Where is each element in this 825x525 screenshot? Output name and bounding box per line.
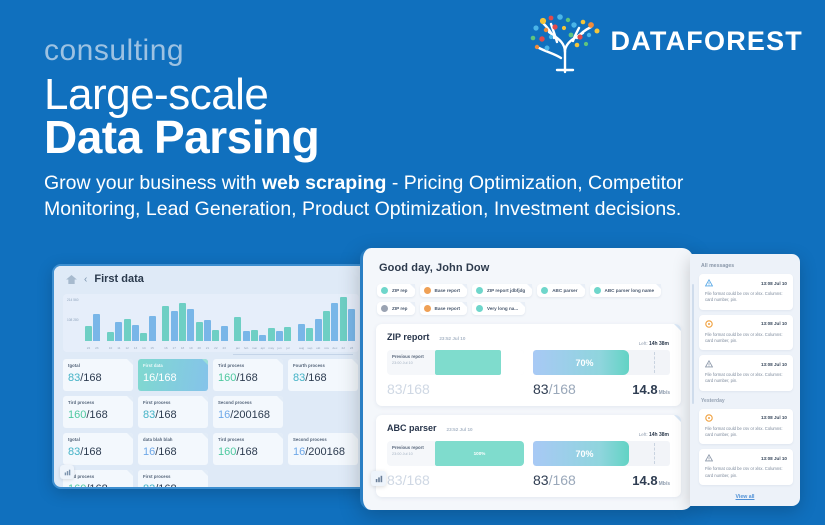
- chip-label: Very long na...: [487, 306, 518, 311]
- stat-card-label: Tird process: [218, 437, 278, 442]
- stat-card[interactable]: First data16/168: [138, 359, 208, 391]
- messages-day-separator: Yesterday: [690, 391, 800, 404]
- filter-chip[interactable]: Very long na...: [472, 302, 525, 315]
- stat-card-numerator: 16: [293, 446, 305, 458]
- report-values-row: 83/16883/16814.8Mb/s: [387, 472, 670, 488]
- stat-card-label: Second process: [293, 437, 353, 442]
- chart-bar: [298, 324, 305, 341]
- chart-bar: [306, 328, 313, 341]
- chart-x-label: nov: [323, 346, 330, 350]
- chart-bar: [162, 306, 169, 341]
- chart-bar: [268, 328, 275, 341]
- greeting-text: Good day, John Dow: [363, 248, 693, 274]
- chip-status-dot: [541, 287, 548, 294]
- subtitle-pre: Grow your business with: [44, 172, 262, 194]
- stat-card-numerator: 16: [143, 372, 155, 384]
- chart-ylabel-top: 214 560: [67, 298, 79, 302]
- previous-progress-bar: 74%: [435, 350, 524, 375]
- transfer-speed-unit: Mb/s: [659, 481, 670, 487]
- stat-card-value: 160/168: [218, 446, 278, 458]
- chart-bar: [348, 309, 355, 341]
- message-body: File format could be csv or xlsx. Column…: [705, 466, 787, 479]
- stat-card[interactable]: First process83/168: [138, 396, 208, 428]
- previous-total-value: 83/168: [387, 381, 524, 397]
- transfer-speed-unit: Mb/s: [659, 390, 670, 396]
- left-panel-title: First data: [94, 273, 144, 285]
- message-list-yesterday: 13:08 Jul 10File format could be csv or …: [690, 409, 800, 485]
- chart-x-label: 13: [132, 346, 139, 350]
- message-list: 13:08 Jul 10File format could be csv or …: [690, 274, 800, 391]
- report-title: ZIP report: [387, 332, 429, 342]
- stat-card-numerator: 83: [143, 483, 155, 489]
- message-body: File format could be csv or xlsx. Column…: [705, 372, 787, 385]
- stat-card[interactable]: Tird process160/168: [213, 359, 283, 391]
- messages-panel: All messages 13:08 Jul 10File format cou…: [690, 254, 800, 506]
- kicker-text: consulting: [44, 34, 184, 68]
- stat-card-value: 83/168: [68, 372, 128, 384]
- report-card[interactable]: ABC parser23:52 Jul 10Left: 14h 38mPrevi…: [376, 415, 681, 497]
- message-time: 13:08 Jul 10: [761, 362, 787, 367]
- transfer-speed-value: 14.8: [632, 382, 657, 397]
- chart-x-label: 22: [340, 346, 347, 350]
- chart-bar: [234, 317, 241, 341]
- filter-chip[interactable]: ABC parser long name: [590, 284, 662, 297]
- chart-bar: [259, 335, 266, 341]
- left-panel-header: ‹ First data: [54, 266, 368, 292]
- home-icon[interactable]: [66, 275, 77, 284]
- stat-card[interactable]: Second process16/200168: [213, 396, 283, 428]
- chart-x-label: 17: [171, 346, 178, 350]
- previous-report-title: Previous report: [392, 354, 430, 359]
- previous-report-time: 23:00 Jul 10: [392, 361, 430, 365]
- previous-progress-percent: 100%: [435, 451, 524, 456]
- stat-card-label: First process: [143, 400, 203, 405]
- stat-card-denominator: /168: [236, 446, 257, 458]
- message-header: 13:08 Jul 10: [705, 320, 787, 328]
- card-corner-fold: [127, 433, 133, 439]
- stat-card-denominator: /168: [86, 483, 107, 489]
- chart-underline: [233, 354, 353, 355]
- report-card-list: ZIP report23:52 Jul 10Left: 14h 38mPrevi…: [363, 324, 693, 497]
- chart-bar: [196, 322, 203, 341]
- card-corner-fold: [277, 433, 283, 439]
- message-header: 13:08 Jul 10: [705, 454, 787, 462]
- chart-x-label: 23: [221, 346, 228, 350]
- stat-card-numerator: 160: [218, 372, 236, 384]
- chart-x-label: 10: [107, 346, 114, 350]
- chart-x-label: 22: [212, 346, 219, 350]
- chart-bar: [171, 311, 178, 341]
- chip-corner-fold: [410, 302, 415, 307]
- stat-card[interactable]: data blah blah16/168: [138, 433, 208, 465]
- chart-x-label: aug: [298, 346, 305, 350]
- chart-bar: [85, 326, 92, 341]
- chart-bar: [140, 333, 147, 341]
- warning-triangle-icon: [705, 360, 713, 368]
- promo-banner: DATAFOREST consulting Large-scale Data P…: [0, 0, 825, 525]
- chart-x-label: jul: [284, 346, 291, 350]
- report-bars-row: Previous report23:00 Jul 1074%70%: [387, 350, 670, 375]
- main-progress-bar: 70%: [533, 441, 670, 466]
- previous-report-label: Previous report23:00 Jul 10: [387, 441, 435, 466]
- stat-card-label: Tird process: [68, 400, 128, 405]
- message-body: File format could be csv or xlsx. Column…: [705, 291, 787, 304]
- current-total-numerator: 83: [533, 381, 549, 397]
- current-total-denominator: /168: [549, 381, 576, 397]
- chip-status-dot: [424, 287, 431, 294]
- time-left-value: 14h 38m: [649, 432, 669, 438]
- left-dashboard-panel: ‹ First data 214 560 108 280 22231011121…: [52, 264, 370, 489]
- page-title-line2: Data Parsing: [44, 110, 319, 164]
- chart-x-label: 22: [85, 346, 92, 350]
- stat-card-denominator: /200168: [305, 446, 345, 458]
- stat-card-numerator: 83: [68, 372, 80, 384]
- chart-x-label: 14: [140, 346, 147, 350]
- stat-card[interactable]: Fourth process83/168: [288, 359, 358, 391]
- chart-bars-icon[interactable]: [60, 465, 74, 479]
- card-corner-fold: [127, 470, 133, 476]
- card-corner-fold: [277, 396, 283, 402]
- current-values: 83/16814.8Mb/s: [533, 472, 670, 488]
- chart-x-label: apr: [259, 346, 266, 350]
- current-total-value: 83/168: [533, 381, 576, 397]
- chip-status-dot: [476, 305, 483, 312]
- chart-bar: [221, 326, 228, 341]
- chart-bar: [251, 330, 258, 341]
- chart-bar: [331, 303, 338, 341]
- stat-card-denominator: /168: [80, 446, 101, 458]
- chip-corner-fold: [527, 284, 532, 289]
- stat-card[interactable]: Tird process160/168: [63, 396, 133, 428]
- stat-card-value: 160/168: [68, 409, 128, 421]
- stat-card-denominator: /168: [236, 372, 257, 384]
- card-corner-fold: [127, 359, 133, 365]
- warning-triangle-icon: [705, 454, 713, 462]
- chip-corner-fold: [462, 302, 467, 307]
- chart-x-label: jun: [276, 346, 283, 350]
- stat-card-label: tgotal: [68, 437, 128, 442]
- message-card[interactable]: 13:08 Jul 10File format could be csv or …: [699, 315, 793, 351]
- card-corner-fold: [674, 415, 681, 422]
- card-corner-fold: [352, 359, 358, 365]
- stat-card-value: 16/200168: [218, 409, 278, 421]
- stat-card-numerator: 160: [218, 446, 236, 458]
- current-total-value: 83/168: [533, 472, 576, 488]
- stat-card[interactable]: tgotal83/168: [63, 433, 133, 465]
- current-total-denominator: /168: [549, 472, 576, 488]
- chart-ylabel-mid: 108 280: [67, 318, 79, 322]
- stat-card-value: 16/200168: [293, 446, 353, 458]
- chip-corner-fold: [580, 284, 585, 289]
- card-corner-fold: [202, 470, 208, 476]
- transfer-speed: 14.8Mb/s: [632, 473, 670, 488]
- filter-chip[interactable]: Base report: [420, 302, 468, 315]
- main-progress-bar: 70%: [533, 350, 670, 375]
- chart-x-label: 16: [162, 346, 169, 350]
- chart-x-label: 11: [115, 346, 122, 350]
- message-body: File format could be csv or xlsx. Column…: [705, 332, 787, 345]
- chart-bars-icon[interactable]: [371, 471, 386, 486]
- chart-bar: [115, 322, 122, 341]
- chart-bar: [212, 330, 219, 341]
- alert-circle-icon: [705, 414, 713, 422]
- report-values-row: 83/16883/16814.8Mb/s: [387, 381, 670, 397]
- stat-card-numerator: 16: [218, 409, 230, 421]
- stat-card-label: data blah blah: [143, 437, 203, 442]
- message-header: 13:08 Jul 10: [705, 279, 787, 287]
- stat-card-denominator: /168: [86, 409, 107, 421]
- chip-label: ZIP rep: [392, 306, 408, 311]
- transfer-speed-value: 14.8: [632, 473, 657, 488]
- chart-x-label: feb: [243, 346, 250, 350]
- chip-status-dot: [381, 287, 388, 294]
- chart-bar: [124, 319, 131, 342]
- stat-card-placeholder: [288, 396, 358, 428]
- stat-card-label: Fourth process: [293, 363, 353, 368]
- transfer-speed: 14.8Mb/s: [632, 382, 670, 397]
- stat-card-label: tgotal: [68, 363, 128, 368]
- chart-bar: [149, 316, 156, 341]
- current-values: 83/16814.8Mb/s: [533, 381, 670, 397]
- message-body: File format could be csv or xlsx. Column…: [705, 426, 787, 439]
- chart-x-axis: 22231011121314151617181920212223janfebma…: [85, 346, 355, 350]
- card-corner-fold: [277, 359, 283, 365]
- card-corner-fold: [352, 433, 358, 439]
- card-corner-fold: [202, 396, 208, 402]
- stat-card-denominator: /168: [80, 372, 101, 384]
- chip-label: ABC parser long name: [605, 288, 655, 293]
- chip-corner-fold: [462, 284, 467, 289]
- time-left-label: Left:: [639, 432, 648, 437]
- card-corner-fold: [202, 359, 208, 365]
- time-left-label: Left:: [639, 341, 648, 346]
- chip-label: ABC parser: [552, 288, 577, 293]
- stat-card-label: Tird process: [68, 474, 128, 479]
- message-card[interactable]: 13:08 Jul 10File format could be csv or …: [699, 449, 793, 485]
- chart-bar: [340, 297, 347, 341]
- previous-report-label: Previous report23:00 Jul 10: [387, 350, 435, 375]
- filter-chip[interactable]: ABC parser: [537, 284, 584, 297]
- message-time: 13:08 Jul 10: [761, 456, 787, 461]
- current-total-numerator: 83: [533, 472, 549, 488]
- message-header: 13:08 Jul 10: [705, 360, 787, 368]
- message-time: 13:08 Jul 10: [761, 281, 787, 286]
- report-header: ABC parser23:52 Jul 10: [387, 423, 670, 433]
- stat-card-label: First data: [143, 363, 203, 368]
- chip-status-dot: [594, 287, 601, 294]
- bar-chart: 214 560 108 280 222310111213141516171819…: [63, 294, 359, 352]
- main-progress-percent: 70%: [533, 358, 670, 368]
- stat-card-value: 160/168: [218, 372, 278, 384]
- report-bars-row: Previous report23:00 Jul 10100%70%: [387, 441, 670, 466]
- message-card[interactable]: 13:08 Jul 10File format could be csv or …: [699, 409, 793, 445]
- stat-card-value: 160/168: [68, 483, 128, 489]
- chip-list: ZIP repBase reportZIP report jdbfjdgABC …: [363, 274, 693, 315]
- stat-card-numerator: 160: [68, 483, 86, 489]
- stat-card[interactable]: tgotal83/168: [63, 359, 133, 391]
- previous-report-block: Previous report23:00 Jul 10100%: [387, 441, 524, 466]
- stat-card-denominator: /168: [155, 483, 176, 489]
- card-corner-fold: [127, 396, 133, 402]
- message-card[interactable]: 13:08 Jul 10File format could be csv or …: [699, 274, 793, 310]
- brand-logo: DATAFOREST: [521, 8, 803, 74]
- chart-bar: [93, 314, 100, 341]
- stat-card-value: 16/168: [143, 446, 203, 458]
- stat-card-denominator: /200168: [230, 409, 270, 421]
- stat-card-numerator: 83: [68, 446, 80, 458]
- alert-circle-icon: [705, 320, 713, 328]
- chart-bar: [284, 327, 291, 341]
- stat-card[interactable]: First process83/168: [138, 470, 208, 489]
- stat-card-value: 83/168: [293, 372, 353, 384]
- chip-label: ZIP report jdbfjdg: [487, 288, 525, 293]
- previous-progress-percent: 74%: [509, 360, 518, 365]
- subtitle-highlight: web scraping: [262, 172, 387, 194]
- report-header: ZIP report23:52 Jul 10: [387, 332, 670, 342]
- view-all-link[interactable]: View all: [690, 485, 800, 500]
- chip-status-dot: [476, 287, 483, 294]
- report-time-left: Left: 14h 38m: [639, 432, 669, 438]
- stat-card-numerator: 160: [68, 409, 86, 421]
- main-progress-percent: 70%: [533, 449, 670, 459]
- chart-x-label: jan: [234, 346, 241, 350]
- tree-dots-icon: [521, 8, 607, 74]
- chart-bar: [179, 303, 186, 341]
- chart-x-label: may: [268, 346, 275, 350]
- chart-bar: [107, 332, 114, 341]
- chart-bar: [315, 319, 322, 342]
- chart-bar: [204, 320, 211, 341]
- stat-card-label: Second process: [218, 400, 278, 405]
- stat-card-denominator: /168: [155, 372, 176, 384]
- filter-chip[interactable]: Base report: [420, 284, 468, 297]
- stat-card-numerator: 16: [143, 446, 155, 458]
- chart-x-label: 15: [149, 346, 156, 350]
- stat-card-denominator: /168: [305, 372, 326, 384]
- stat-card-value: 83/168: [143, 409, 203, 421]
- previous-report-time: 23:00 Jul 10: [392, 452, 430, 456]
- stat-cards-grid: tgotal83/168First data16/168Tird process…: [63, 359, 359, 489]
- time-left-value: 14h 38m: [649, 341, 669, 347]
- chart-bar: [276, 331, 283, 341]
- report-timestamp: 23:52 Jul 10: [447, 427, 473, 432]
- card-corner-fold: [674, 324, 681, 331]
- chart-x-label: dec: [331, 346, 338, 350]
- chart-x-label: 18: [179, 346, 186, 350]
- message-time: 13:08 Jul 10: [761, 415, 787, 420]
- stat-card-numerator: 83: [293, 372, 305, 384]
- chart-bars: [85, 297, 355, 341]
- stat-card-value: 16/168: [143, 372, 203, 384]
- chart-bar: [187, 309, 194, 341]
- brand-name: DATAFOREST: [611, 26, 803, 57]
- report-time-left: Left: 14h 38m: [639, 341, 669, 347]
- report-card[interactable]: ZIP report23:52 Jul 10Left: 14h 38mPrevi…: [376, 324, 681, 406]
- report-title: ABC parser: [387, 423, 437, 433]
- chart-x-label: okt: [315, 346, 322, 350]
- stat-card-label: Tird process: [218, 363, 278, 368]
- chip-corner-fold: [520, 302, 525, 307]
- report-timestamp: 23:52 Jul 10: [439, 336, 465, 341]
- chart-bar: [132, 325, 139, 341]
- chart-x-label: 23: [348, 346, 355, 350]
- filter-chip[interactable]: ZIP rep: [377, 302, 415, 315]
- messages-scrollbar[interactable]: [692, 284, 694, 404]
- subtitle: Grow your business with web scraping - P…: [44, 170, 774, 223]
- previous-report-block: Previous report23:00 Jul 1074%: [387, 350, 524, 375]
- chip-status-dot: [381, 305, 388, 312]
- stat-card[interactable]: Tird process160/168: [213, 433, 283, 465]
- messages-title: All messages: [690, 254, 800, 269]
- stat-card-denominator: /168: [155, 446, 176, 458]
- chip-corner-fold: [410, 284, 415, 289]
- chart-bar: [243, 331, 250, 341]
- stat-card-value: 83/168: [68, 446, 128, 458]
- chart-x-label: 12: [124, 346, 131, 350]
- stat-card-denominator: /168: [155, 409, 176, 421]
- chart-x-label: 19: [187, 346, 194, 350]
- previous-progress-bar: 100%: [435, 441, 524, 466]
- chevron-left-icon[interactable]: ‹: [84, 274, 87, 285]
- chart-x-label: sep: [306, 346, 313, 350]
- chip-label: Base report: [435, 306, 461, 311]
- chart-x-label: 21: [204, 346, 211, 350]
- chip-corner-fold: [656, 284, 661, 289]
- chart-x-label: 23: [93, 346, 100, 350]
- chip-label: ZIP rep: [392, 288, 408, 293]
- stat-card[interactable]: Second process16/200168: [288, 433, 358, 465]
- chip-status-dot: [424, 305, 431, 312]
- card-corner-fold: [202, 433, 208, 439]
- chart-bar: [323, 311, 330, 341]
- chart-x-label: mar: [251, 346, 258, 350]
- main-dashboard-panel: Good day, John Dow ZIP repBase reportZIP…: [360, 248, 693, 510]
- stat-card-value: 83/168: [143, 483, 203, 489]
- previous-report-title: Previous report: [392, 445, 430, 450]
- previous-total-value: 83/168: [387, 472, 524, 488]
- message-time: 13:08 Jul 10: [761, 321, 787, 326]
- chip-label: Base report: [435, 288, 461, 293]
- filter-chip[interactable]: ZIP report jdbfjdg: [472, 284, 532, 297]
- warning-triangle-icon: [705, 279, 713, 287]
- filter-chip[interactable]: ZIP rep: [377, 284, 415, 297]
- stat-card-numerator: 83: [143, 409, 155, 421]
- stat-card-label: First process: [143, 474, 203, 479]
- message-card[interactable]: 13:08 Jul 10File format could be csv or …: [699, 355, 793, 391]
- chart-x-label: 20: [196, 346, 203, 350]
- message-header: 13:08 Jul 10: [705, 414, 787, 422]
- previous-progress-fill: [435, 350, 501, 375]
